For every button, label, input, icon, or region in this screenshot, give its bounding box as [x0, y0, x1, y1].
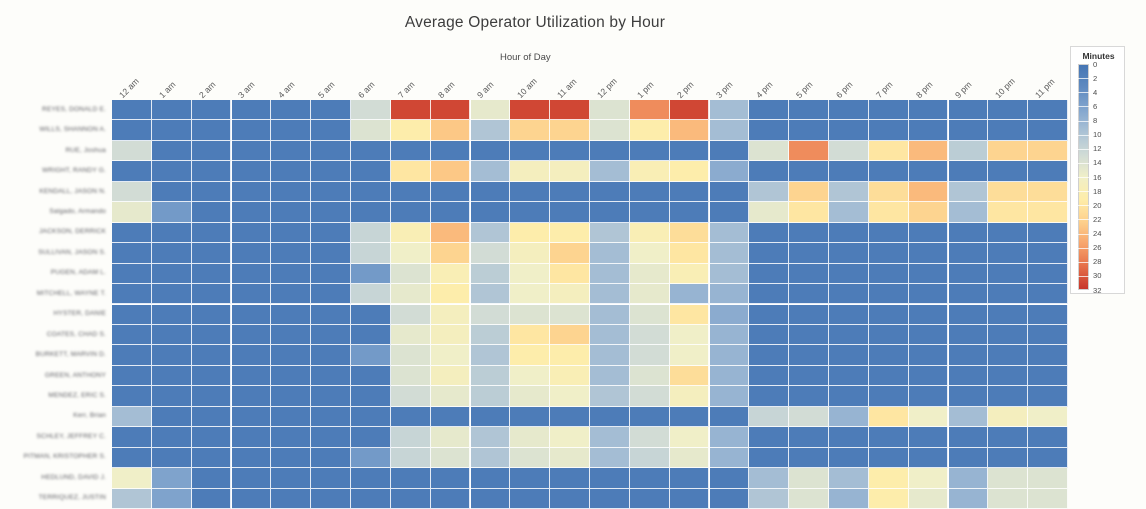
- heatmap-cell[interactable]: [909, 141, 949, 161]
- heatmap-cell[interactable]: [789, 489, 829, 509]
- heatmap-cell[interactable]: [550, 182, 590, 202]
- heatmap-cell[interactable]: [232, 427, 272, 447]
- heatmap-cell[interactable]: [351, 468, 391, 488]
- heatmap-cell[interactable]: [710, 182, 750, 202]
- heatmap-cell[interactable]: [630, 141, 670, 161]
- heatmap-cell[interactable]: [909, 243, 949, 263]
- heatmap-cell[interactable]: [271, 448, 311, 468]
- heatmap-cell[interactable]: [590, 264, 630, 284]
- heatmap-cell[interactable]: [550, 243, 590, 263]
- heatmap-cell[interactable]: [749, 448, 789, 468]
- heatmap-cell[interactable]: [869, 161, 909, 181]
- heatmap-cell[interactable]: [510, 448, 550, 468]
- heatmap-cell[interactable]: [471, 448, 511, 468]
- heatmap-cell[interactable]: [510, 468, 550, 488]
- heatmap-cell[interactable]: [550, 366, 590, 386]
- heatmap-cell[interactable]: [670, 120, 710, 140]
- heatmap-cell[interactable]: [909, 468, 949, 488]
- heatmap-cell[interactable]: [271, 120, 311, 140]
- heatmap-cell[interactable]: [869, 366, 909, 386]
- heatmap-cell[interactable]: [192, 407, 232, 427]
- heatmap-cell[interactable]: [510, 345, 550, 365]
- heatmap-cell[interactable]: [949, 120, 989, 140]
- heatmap-cell[interactable]: [789, 407, 829, 427]
- heatmap-cell[interactable]: [192, 243, 232, 263]
- heatmap-cell[interactable]: [391, 366, 431, 386]
- heatmap-cell[interactable]: [670, 468, 710, 488]
- heatmap-cell[interactable]: [1028, 182, 1068, 202]
- heatmap-cell[interactable]: [670, 141, 710, 161]
- heatmap-cell[interactable]: [630, 223, 670, 243]
- heatmap-cell[interactable]: [311, 243, 351, 263]
- heatmap-cell[interactable]: [311, 325, 351, 345]
- heatmap-cell[interactable]: [471, 120, 511, 140]
- heatmap-cell[interactable]: [112, 284, 152, 304]
- heatmap-cell[interactable]: [710, 100, 750, 120]
- heatmap-cell[interactable]: [431, 386, 471, 406]
- heatmap-cell[interactable]: [192, 120, 232, 140]
- heatmap-cell[interactable]: [232, 386, 272, 406]
- heatmap-cell[interactable]: [351, 243, 391, 263]
- heatmap-cell[interactable]: [550, 427, 590, 447]
- heatmap-cell[interactable]: [391, 386, 431, 406]
- heatmap-cell[interactable]: [431, 161, 471, 181]
- heatmap-cell[interactable]: [152, 202, 192, 222]
- heatmap-cell[interactable]: [192, 100, 232, 120]
- heatmap-cell[interactable]: [749, 243, 789, 263]
- heatmap-cell[interactable]: [1028, 161, 1068, 181]
- heatmap-cell[interactable]: [710, 345, 750, 365]
- heatmap-cell[interactable]: [471, 243, 511, 263]
- heatmap-cell[interactable]: [909, 407, 949, 427]
- heatmap-cell[interactable]: [271, 202, 311, 222]
- heatmap-cell[interactable]: [1028, 243, 1068, 263]
- heatmap-cell[interactable]: [311, 141, 351, 161]
- heatmap-cell[interactable]: [112, 182, 152, 202]
- heatmap-cell[interactable]: [391, 243, 431, 263]
- heatmap-cell[interactable]: [192, 468, 232, 488]
- heatmap-cell[interactable]: [789, 243, 829, 263]
- heatmap-cell[interactable]: [112, 468, 152, 488]
- heatmap-cell[interactable]: [232, 161, 272, 181]
- heatmap-cell[interactable]: [232, 100, 272, 120]
- heatmap-cell[interactable]: [232, 345, 272, 365]
- heatmap-cell[interactable]: [829, 489, 869, 509]
- heatmap-cell[interactable]: [590, 141, 630, 161]
- heatmap-cell[interactable]: [471, 325, 511, 345]
- heatmap-cell[interactable]: [749, 345, 789, 365]
- heatmap-cell[interactable]: [192, 141, 232, 161]
- heatmap-cell[interactable]: [670, 284, 710, 304]
- heatmap-cell[interactable]: [909, 223, 949, 243]
- heatmap-cell[interactable]: [789, 468, 829, 488]
- heatmap-cell[interactable]: [590, 427, 630, 447]
- heatmap-cell[interactable]: [391, 325, 431, 345]
- heatmap-cell[interactable]: [710, 407, 750, 427]
- heatmap-cell[interactable]: [351, 141, 391, 161]
- heatmap-cell[interactable]: [431, 223, 471, 243]
- heatmap-cell[interactable]: [391, 489, 431, 509]
- heatmap-cell[interactable]: [391, 427, 431, 447]
- heatmap-cell[interactable]: [271, 284, 311, 304]
- heatmap-cell[interactable]: [152, 407, 192, 427]
- heatmap-cell[interactable]: [112, 407, 152, 427]
- heatmap-cell[interactable]: [192, 182, 232, 202]
- heatmap-cell[interactable]: [869, 264, 909, 284]
- heatmap-cell[interactable]: [988, 223, 1028, 243]
- heatmap-cell[interactable]: [710, 284, 750, 304]
- heatmap-cell[interactable]: [192, 161, 232, 181]
- heatmap-cell[interactable]: [829, 264, 869, 284]
- heatmap-cell[interactable]: [869, 386, 909, 406]
- heatmap-cell[interactable]: [271, 427, 311, 447]
- heatmap-cell[interactable]: [232, 325, 272, 345]
- heatmap-cell[interactable]: [510, 243, 550, 263]
- heatmap-cell[interactable]: [232, 243, 272, 263]
- heatmap-cell[interactable]: [550, 284, 590, 304]
- heatmap-cell[interactable]: [232, 468, 272, 488]
- heatmap-cell[interactable]: [949, 100, 989, 120]
- heatmap-cell[interactable]: [949, 264, 989, 284]
- heatmap-cell[interactable]: [550, 468, 590, 488]
- heatmap-cell[interactable]: [630, 468, 670, 488]
- heatmap-cell[interactable]: [988, 264, 1028, 284]
- heatmap-cell[interactable]: [152, 386, 192, 406]
- heatmap-cell[interactable]: [431, 345, 471, 365]
- heatmap-cell[interactable]: [789, 325, 829, 345]
- heatmap-cell[interactable]: [1028, 223, 1068, 243]
- heatmap-cell[interactable]: [550, 448, 590, 468]
- heatmap-cell[interactable]: [311, 489, 351, 509]
- heatmap-cell[interactable]: [670, 243, 710, 263]
- heatmap-cell[interactable]: [510, 305, 550, 325]
- heatmap-cell[interactable]: [391, 468, 431, 488]
- heatmap-cell[interactable]: [271, 182, 311, 202]
- heatmap-cell[interactable]: [510, 141, 550, 161]
- heatmap-cell[interactable]: [829, 120, 869, 140]
- heatmap-cell[interactable]: [112, 202, 152, 222]
- heatmap-cell[interactable]: [391, 407, 431, 427]
- heatmap-cell[interactable]: [789, 386, 829, 406]
- heatmap-cell[interactable]: [949, 284, 989, 304]
- heatmap-cell[interactable]: [152, 448, 192, 468]
- heatmap-cell[interactable]: [471, 407, 511, 427]
- heatmap-cell[interactable]: [829, 366, 869, 386]
- heatmap-cell[interactable]: [590, 305, 630, 325]
- heatmap-cell[interactable]: [710, 141, 750, 161]
- heatmap-cell[interactable]: [710, 427, 750, 447]
- heatmap-cell[interactable]: [670, 264, 710, 284]
- heatmap-cell[interactable]: [311, 264, 351, 284]
- heatmap-cell[interactable]: [789, 448, 829, 468]
- heatmap-cell[interactable]: [630, 305, 670, 325]
- heatmap-cell[interactable]: [232, 448, 272, 468]
- heatmap-cell[interactable]: [1028, 120, 1068, 140]
- heatmap-cell[interactable]: [471, 141, 511, 161]
- heatmap-cell[interactable]: [630, 448, 670, 468]
- heatmap-cell[interactable]: [112, 223, 152, 243]
- heatmap-cell[interactable]: [670, 161, 710, 181]
- heatmap-cell[interactable]: [749, 120, 789, 140]
- heatmap-cell[interactable]: [471, 489, 511, 509]
- heatmap-cell[interactable]: [112, 427, 152, 447]
- heatmap-cell[interactable]: [431, 141, 471, 161]
- heatmap-cell[interactable]: [232, 284, 272, 304]
- heatmap-cell[interactable]: [988, 202, 1028, 222]
- heatmap-cell[interactable]: [630, 489, 670, 509]
- heatmap-cell[interactable]: [311, 100, 351, 120]
- heatmap-cell[interactable]: [232, 202, 272, 222]
- heatmap-cell[interactable]: [471, 284, 511, 304]
- heatmap-cell[interactable]: [152, 182, 192, 202]
- heatmap-cell[interactable]: [510, 182, 550, 202]
- heatmap-cell[interactable]: [630, 161, 670, 181]
- heatmap-cell[interactable]: [988, 468, 1028, 488]
- heatmap-cell[interactable]: [311, 468, 351, 488]
- heatmap-cell[interactable]: [232, 182, 272, 202]
- heatmap-cell[interactable]: [152, 366, 192, 386]
- heatmap-cell[interactable]: [789, 345, 829, 365]
- heatmap-cell[interactable]: [431, 284, 471, 304]
- heatmap-cell[interactable]: [351, 448, 391, 468]
- heatmap-cell[interactable]: [192, 305, 232, 325]
- heatmap-cell[interactable]: [988, 386, 1028, 406]
- heatmap-cell[interactable]: [471, 100, 511, 120]
- heatmap-cell[interactable]: [789, 100, 829, 120]
- heatmap-cell[interactable]: [749, 223, 789, 243]
- heatmap-cell[interactable]: [431, 120, 471, 140]
- heatmap-cell[interactable]: [749, 468, 789, 488]
- heatmap-cell[interactable]: [949, 305, 989, 325]
- heatmap-cell[interactable]: [590, 448, 630, 468]
- heatmap-cell[interactable]: [869, 427, 909, 447]
- heatmap-cell[interactable]: [1028, 264, 1068, 284]
- heatmap-cell[interactable]: [949, 182, 989, 202]
- heatmap-cell[interactable]: [909, 325, 949, 345]
- heatmap-cell[interactable]: [232, 264, 272, 284]
- heatmap-cell[interactable]: [670, 448, 710, 468]
- heatmap-cell[interactable]: [351, 202, 391, 222]
- heatmap-cell[interactable]: [710, 243, 750, 263]
- heatmap-cell[interactable]: [152, 489, 192, 509]
- heatmap-cell[interactable]: [510, 489, 550, 509]
- heatmap-cell[interactable]: [112, 161, 152, 181]
- heatmap-cell[interactable]: [949, 345, 989, 365]
- heatmap-cell[interactable]: [550, 141, 590, 161]
- heatmap-cell[interactable]: [949, 202, 989, 222]
- heatmap-cell[interactable]: [192, 284, 232, 304]
- heatmap-cell[interactable]: [351, 161, 391, 181]
- heatmap-cell[interactable]: [909, 120, 949, 140]
- heatmap-cell[interactable]: [949, 427, 989, 447]
- heatmap-cell[interactable]: [749, 386, 789, 406]
- heatmap-cell[interactable]: [749, 264, 789, 284]
- heatmap-cell[interactable]: [749, 325, 789, 345]
- heatmap-cell[interactable]: [471, 223, 511, 243]
- heatmap-cell[interactable]: [351, 264, 391, 284]
- heatmap-cell[interactable]: [869, 141, 909, 161]
- heatmap-cell[interactable]: [988, 305, 1028, 325]
- heatmap-cell[interactable]: [351, 386, 391, 406]
- heatmap-cell[interactable]: [829, 427, 869, 447]
- heatmap-cell[interactable]: [550, 161, 590, 181]
- heatmap-cell[interactable]: [311, 427, 351, 447]
- heatmap-cell[interactable]: [829, 386, 869, 406]
- heatmap-cell[interactable]: [909, 264, 949, 284]
- heatmap-cell[interactable]: [471, 202, 511, 222]
- heatmap-cell[interactable]: [391, 223, 431, 243]
- heatmap-cell[interactable]: [670, 202, 710, 222]
- heatmap-cell[interactable]: [590, 100, 630, 120]
- heatmap-cell[interactable]: [630, 325, 670, 345]
- heatmap-cell[interactable]: [710, 223, 750, 243]
- heatmap-cell[interactable]: [988, 100, 1028, 120]
- heatmap-cell[interactable]: [590, 161, 630, 181]
- heatmap-cell[interactable]: [630, 202, 670, 222]
- heatmap-cell[interactable]: [431, 366, 471, 386]
- heatmap-cell[interactable]: [909, 202, 949, 222]
- heatmap-cell[interactable]: [630, 386, 670, 406]
- heatmap-cell[interactable]: [590, 243, 630, 263]
- heatmap-cell[interactable]: [112, 243, 152, 263]
- heatmap-cell[interactable]: [988, 120, 1028, 140]
- heatmap-cell[interactable]: [311, 345, 351, 365]
- heatmap-cell[interactable]: [630, 284, 670, 304]
- heatmap-cell[interactable]: [949, 407, 989, 427]
- heatmap-cell[interactable]: [869, 489, 909, 509]
- heatmap-cell[interactable]: [192, 202, 232, 222]
- heatmap-cell[interactable]: [431, 325, 471, 345]
- heatmap-cell[interactable]: [789, 223, 829, 243]
- heatmap-cell[interactable]: [909, 284, 949, 304]
- heatmap-cell[interactable]: [869, 202, 909, 222]
- heatmap-cell[interactable]: [710, 366, 750, 386]
- heatmap-cell[interactable]: [988, 345, 1028, 365]
- heatmap-cell[interactable]: [152, 427, 192, 447]
- heatmap-cell[interactable]: [630, 243, 670, 263]
- heatmap-cell[interactable]: [829, 468, 869, 488]
- heatmap-cell[interactable]: [749, 182, 789, 202]
- heatmap-cell[interactable]: [271, 243, 311, 263]
- heatmap-cell[interactable]: [351, 427, 391, 447]
- heatmap-cell[interactable]: [829, 284, 869, 304]
- heatmap-cell[interactable]: [1028, 407, 1068, 427]
- heatmap-cell[interactable]: [949, 366, 989, 386]
- heatmap-cell[interactable]: [510, 202, 550, 222]
- heatmap-cell[interactable]: [829, 223, 869, 243]
- heatmap-cell[interactable]: [1028, 448, 1068, 468]
- heatmap-cell[interactable]: [550, 305, 590, 325]
- heatmap-cell[interactable]: [869, 182, 909, 202]
- heatmap-cell[interactable]: [909, 448, 949, 468]
- heatmap-cell[interactable]: [829, 345, 869, 365]
- heatmap-cell[interactable]: [471, 427, 511, 447]
- heatmap-cell[interactable]: [471, 366, 511, 386]
- heatmap-cell[interactable]: [869, 448, 909, 468]
- heatmap-cell[interactable]: [710, 202, 750, 222]
- heatmap-cell[interactable]: [869, 407, 909, 427]
- heatmap-cell[interactable]: [949, 223, 989, 243]
- heatmap-cell[interactable]: [192, 264, 232, 284]
- heatmap-cell[interactable]: [311, 202, 351, 222]
- heatmap-cell[interactable]: [630, 100, 670, 120]
- heatmap-cell[interactable]: [391, 448, 431, 468]
- heatmap-cell[interactable]: [431, 407, 471, 427]
- heatmap-cell[interactable]: [391, 345, 431, 365]
- heatmap-cell[interactable]: [949, 468, 989, 488]
- heatmap-cell[interactable]: [630, 407, 670, 427]
- heatmap-cell[interactable]: [431, 427, 471, 447]
- heatmap-cell[interactable]: [271, 264, 311, 284]
- heatmap-cell[interactable]: [789, 202, 829, 222]
- heatmap-cell[interactable]: [1028, 100, 1068, 120]
- heatmap-cell[interactable]: [909, 366, 949, 386]
- heatmap-cell[interactable]: [351, 489, 391, 509]
- heatmap-cell[interactable]: [630, 427, 670, 447]
- heatmap-cell[interactable]: [351, 366, 391, 386]
- heatmap-cell[interactable]: [112, 345, 152, 365]
- heatmap-cell[interactable]: [431, 468, 471, 488]
- heatmap-cell[interactable]: [869, 223, 909, 243]
- heatmap-cell[interactable]: [112, 325, 152, 345]
- heatmap-cell[interactable]: [670, 489, 710, 509]
- heatmap-cell[interactable]: [1028, 325, 1068, 345]
- heatmap-cell[interactable]: [152, 223, 192, 243]
- heatmap-cell[interactable]: [351, 305, 391, 325]
- heatmap-cell[interactable]: [550, 407, 590, 427]
- heatmap-cell[interactable]: [710, 325, 750, 345]
- heatmap-cell[interactable]: [909, 427, 949, 447]
- heatmap-cell[interactable]: [271, 345, 311, 365]
- heatmap-cell[interactable]: [670, 100, 710, 120]
- heatmap-cell[interactable]: [670, 427, 710, 447]
- heatmap-cell[interactable]: [232, 141, 272, 161]
- heatmap-cell[interactable]: [1028, 489, 1068, 509]
- heatmap-cell[interactable]: [869, 325, 909, 345]
- heatmap-cell[interactable]: [988, 427, 1028, 447]
- heatmap-cell[interactable]: [949, 386, 989, 406]
- heatmap-cell[interactable]: [710, 305, 750, 325]
- heatmap-cell[interactable]: [909, 100, 949, 120]
- heatmap-cell[interactable]: [829, 141, 869, 161]
- heatmap-cell[interactable]: [510, 366, 550, 386]
- heatmap-cell[interactable]: [869, 100, 909, 120]
- heatmap-cell[interactable]: [789, 264, 829, 284]
- heatmap-cell[interactable]: [510, 407, 550, 427]
- heatmap-cell[interactable]: [311, 305, 351, 325]
- heatmap-cell[interactable]: [271, 366, 311, 386]
- heatmap-cell[interactable]: [590, 202, 630, 222]
- heatmap-cell[interactable]: [311, 448, 351, 468]
- heatmap-cell[interactable]: [869, 120, 909, 140]
- heatmap-cell[interactable]: [829, 243, 869, 263]
- heatmap-cell[interactable]: [471, 468, 511, 488]
- heatmap-cell[interactable]: [550, 386, 590, 406]
- heatmap-cell[interactable]: [670, 407, 710, 427]
- heatmap-cell[interactable]: [789, 141, 829, 161]
- heatmap-cell[interactable]: [749, 407, 789, 427]
- heatmap-cell[interactable]: [550, 264, 590, 284]
- heatmap-cell[interactable]: [232, 305, 272, 325]
- heatmap-cell[interactable]: [550, 120, 590, 140]
- heatmap-cell[interactable]: [351, 223, 391, 243]
- heatmap-cell[interactable]: [391, 100, 431, 120]
- heatmap-cell[interactable]: [152, 120, 192, 140]
- heatmap-cell[interactable]: [749, 141, 789, 161]
- heatmap-cell[interactable]: [789, 366, 829, 386]
- heatmap-cell[interactable]: [271, 325, 311, 345]
- heatmap-cell[interactable]: [510, 223, 550, 243]
